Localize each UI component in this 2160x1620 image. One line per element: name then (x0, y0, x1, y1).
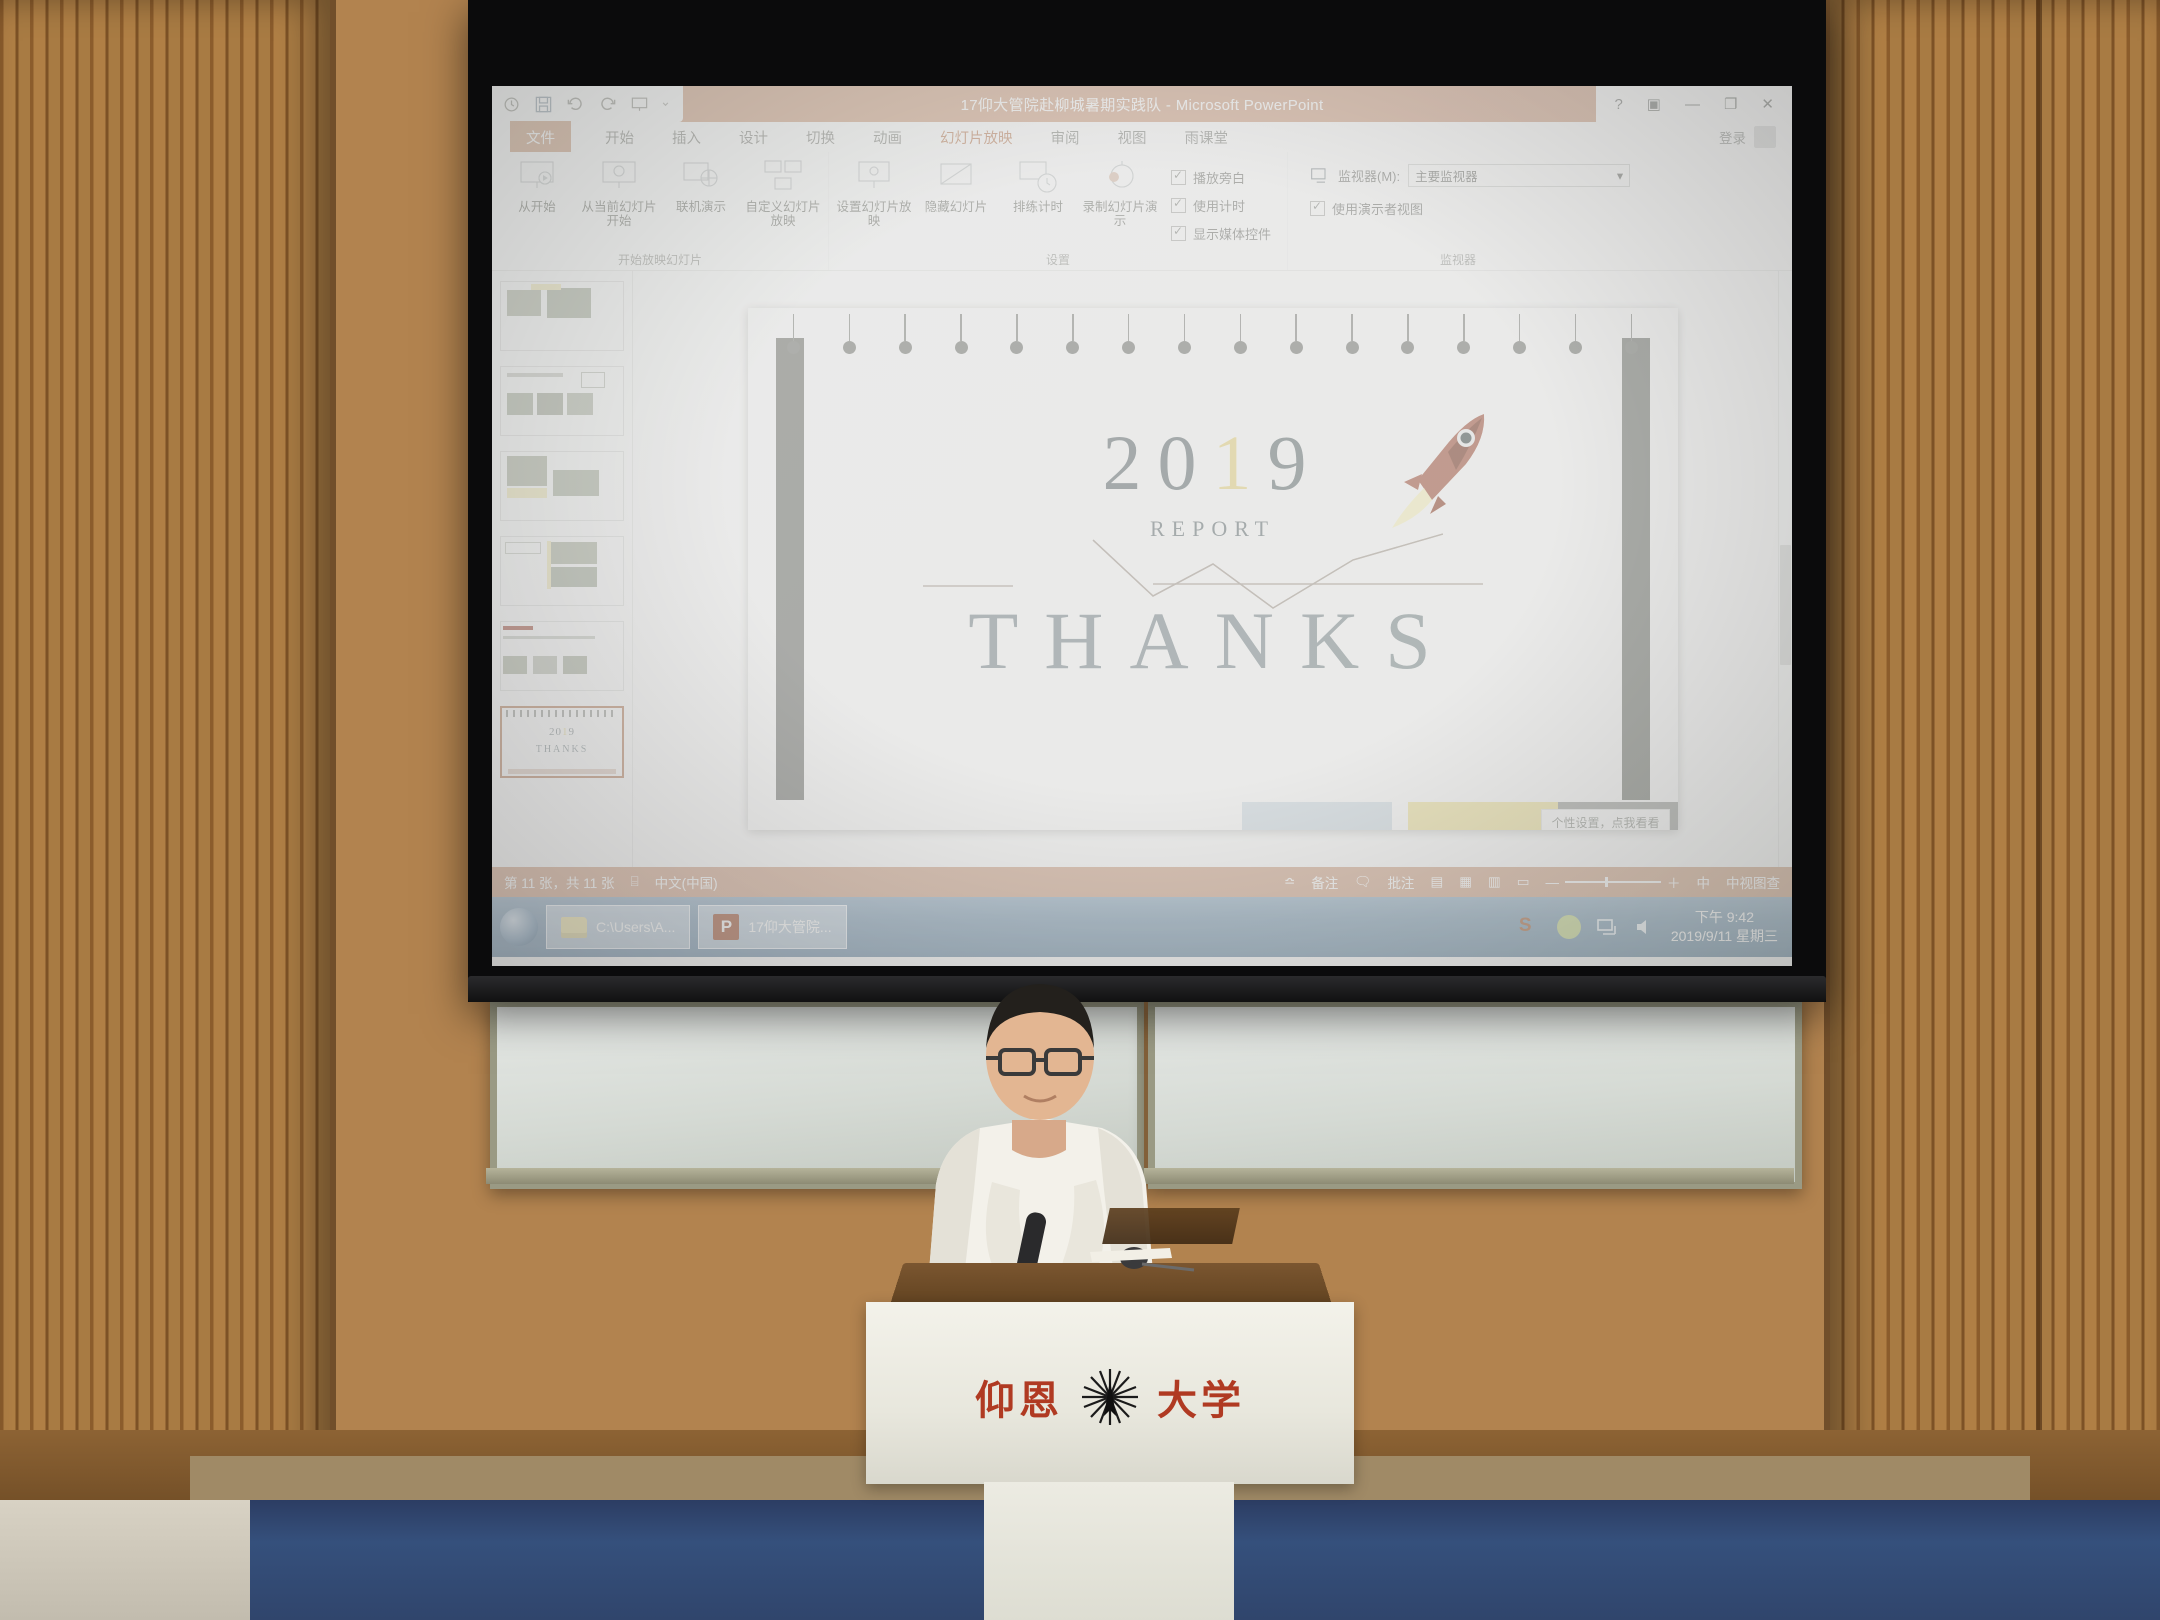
shield-icon[interactable] (1557, 915, 1581, 939)
taskbar-item-label: C:\Users\A... (596, 919, 675, 935)
notes-button[interactable]: 备注 (1311, 872, 1338, 892)
button-label: 录制幻灯片演示 (1081, 200, 1159, 228)
podium-bag (1102, 1208, 1240, 1244)
language-indicator[interactable]: 中文(中国) (655, 872, 718, 892)
sogou-input-icon[interactable]: S (1519, 915, 1543, 939)
volume-icon[interactable] (1633, 915, 1657, 939)
button-from-current-slide[interactable]: 从当前幻灯片开始 (580, 158, 658, 228)
tab-insert[interactable]: 插入 (668, 123, 705, 152)
play-from-start-icon (515, 158, 559, 198)
button-label: 隐藏幻灯片 (925, 200, 988, 214)
pin (1123, 314, 1135, 354)
tooltip-personalize: 个性设置，点我看看 (1541, 809, 1669, 830)
custom-show-icon (761, 158, 805, 198)
record-slideshow-icon (1098, 158, 1142, 198)
year-prefix: 20 (1103, 419, 1213, 506)
powerpoint-window[interactable]: 17仰大管院赴柳城暑期实践队 - Microsoft PowerPoint ? … (492, 86, 1792, 966)
button-from-beginning[interactable]: 从开始 (498, 158, 576, 214)
lecture-hall-scene: 17仰大管院赴柳城暑期实践队 - Microsoft PowerPoint ? … (0, 0, 2160, 1620)
reading-view-icon[interactable]: ▥ (1488, 874, 1501, 890)
podium-front-panel: 仰恩 大学 (866, 1302, 1354, 1484)
button-label: 从开始 (518, 200, 556, 214)
rocket-icon (1374, 404, 1494, 532)
tab-review[interactable]: 审阅 (1047, 123, 1084, 152)
floor-tile-left (0, 1500, 250, 1620)
tab-view[interactable]: 视图 (1114, 123, 1151, 152)
university-name-left: 仰恩 (975, 1368, 1063, 1426)
slide-thumbnail-pane[interactable]: 2019 THANKS (492, 271, 633, 867)
list-item-selected[interactable]: 2019 THANKS (500, 706, 624, 778)
button-label: 排练计时 (1013, 200, 1063, 214)
button-label: 联机演示 (676, 200, 726, 214)
list-item[interactable] (500, 451, 624, 521)
checkbox-use-timings[interactable]: 使用计时 (1171, 196, 1271, 215)
button-present-online[interactable]: 联机演示 (662, 158, 740, 214)
slide-year-title: 2019 (748, 418, 1678, 508)
sunburst-emblem-icon (1079, 1366, 1141, 1428)
zoom-knob[interactable] (1605, 877, 1608, 887)
pin (1067, 314, 1079, 354)
sign-in-control[interactable]: 登录 (1719, 126, 1776, 148)
pin (1625, 314, 1637, 354)
present-online-icon (679, 158, 723, 198)
setup-checkbox-group[interactable]: 播放旁白 使用计时 显示媒体控件 (1163, 158, 1281, 243)
university-name-right: 大学 (1157, 1368, 1245, 1426)
ribbon-tab-strip[interactable]: 文件 开始 插入 设计 切换 动画 幻灯片放映 审阅 视图 雨课堂 登录 (492, 122, 1792, 152)
monitor-icon (1310, 167, 1330, 184)
pin (1514, 314, 1526, 354)
network-icon[interactable] (1595, 915, 1619, 939)
year-highlight: 1 (1213, 419, 1268, 506)
slide-sorter-icon[interactable]: ▦ (1459, 874, 1472, 890)
pin (1346, 314, 1358, 354)
pin (1402, 314, 1414, 354)
projected-desktop: 17仰大管院赴柳城暑期实践队 - Microsoft PowerPoint ? … (492, 86, 1792, 966)
pin (843, 314, 855, 354)
zoom-in-icon[interactable]: ＋ (1667, 872, 1681, 892)
notes-icon[interactable]: ≏ (1284, 874, 1295, 890)
comments-button[interactable]: 批注 (1387, 872, 1414, 892)
tab-design[interactable]: 设计 (735, 123, 772, 152)
checkbox-show-media-controls[interactable]: 显示媒体控件 (1171, 224, 1271, 243)
pin (1179, 314, 1191, 354)
current-slide[interactable]: 2019 REPORT (748, 308, 1678, 830)
play-from-current-icon (597, 158, 641, 198)
taskbar-item-powerpoint[interactable]: P 17仰大管院... (698, 905, 846, 949)
pin (899, 314, 911, 354)
minimize-button[interactable]: — (1685, 96, 1700, 113)
tab-slideshow[interactable]: 幻灯片放映 (936, 123, 1017, 152)
slide-decor-bar-blue (1242, 802, 1392, 830)
whiteboard-right (1148, 1000, 1802, 1189)
checkbox-label: 显示媒体控件 (1193, 224, 1271, 243)
button-custom-slideshow[interactable]: 自定义幻灯片放映 (744, 158, 822, 228)
taskbar-item-label: 17仰大管院... (748, 917, 831, 937)
pin (1458, 314, 1470, 354)
binder-pins (788, 314, 1638, 360)
avatar[interactable] (1754, 126, 1776, 148)
slide-counter: 第 11 张，共 11 张 (504, 872, 615, 892)
checkbox-box[interactable] (1310, 201, 1325, 216)
list-item[interactable] (500, 281, 624, 351)
zoom-slider[interactable]: — ＋ (1546, 872, 1681, 892)
close-button[interactable]: ✕ (1761, 95, 1774, 113)
slideshow-icon[interactable]: ▭ (1517, 874, 1530, 890)
checkbox-label: 播放旁白 (1193, 168, 1245, 187)
wall-panel-right (1830, 0, 2160, 1620)
tab-rain-classroom[interactable]: 雨课堂 (1181, 123, 1233, 152)
spellcheck-icon[interactable]: ⌸ (631, 874, 639, 890)
ribbon-group-setup: 设置幻灯片放映 隐藏幻灯片 排练计时 录制幻灯片演示 (828, 152, 1287, 270)
comment-icon[interactable]: 🗨 (1354, 874, 1371, 890)
clock-time: 下午 9:42 (1671, 908, 1778, 927)
slide-right-band (1622, 338, 1650, 800)
podium: 仰恩 大学 (866, 1258, 1354, 1620)
fit-to-window-label[interactable]: 中视图查 (1726, 872, 1780, 892)
hide-slide-icon (934, 158, 978, 198)
checkbox-box[interactable] (1171, 226, 1186, 241)
monitor-selector-row[interactable]: 监视器(M): 主要监视器 ▾ (1310, 164, 1630, 187)
tab-file[interactable]: 文件 (510, 121, 571, 154)
group-label-start-slideshow: 开始放映幻灯片 (492, 251, 828, 268)
pin (1234, 314, 1246, 354)
checkbox-presenter-view[interactable]: 使用演示者视图 (1310, 199, 1630, 218)
slide-editing-pane[interactable]: 2019 REPORT (633, 271, 1792, 867)
restore-button[interactable]: ❐ (1724, 95, 1737, 113)
zoom-out-icon[interactable]: — (1546, 875, 1560, 890)
system-tray[interactable]: S 下午 9:42 2019/9/11 星期三 (1505, 897, 1792, 957)
ribbon[interactable]: 从开始 从当前幻灯片开始 联机演示 自定义幻灯片放映 (492, 152, 1792, 271)
monitor-value: 主要监视器 (1415, 166, 1478, 185)
title-bar: 17仰大管院赴柳城暑期实践队 - Microsoft PowerPoint ? … (492, 86, 1792, 122)
folder-icon (561, 917, 587, 938)
status-bar[interactable]: 第 11 张，共 11 张 ⌸ 中文(中国) ≏ 备注 🗨 批注 ▤ ▦ ▥ ▭… (492, 867, 1792, 897)
wall-seam (2036, 0, 2042, 1620)
monitor-dropdown[interactable]: 主要监视器 ▾ (1408, 164, 1630, 187)
checkbox-label: 使用演示者视图 (1332, 199, 1423, 218)
wall-panel-left (0, 0, 330, 1620)
ribbon-options-icon[interactable]: ▣ (1647, 95, 1661, 113)
podium-column (984, 1482, 1234, 1620)
tab-home[interactable]: 开始 (601, 123, 638, 152)
pin (1570, 314, 1582, 354)
start-orb-icon[interactable] (500, 908, 538, 946)
taskbar-item-explorer[interactable]: C:\Users\A... (546, 905, 690, 949)
editor-work-area: 2019 THANKS (492, 271, 1792, 867)
sign-in-label[interactable]: 登录 (1719, 127, 1746, 147)
ribbon-group-start-slideshow: 从开始 从当前幻灯片开始 联机演示 自定义幻灯片放映 (492, 152, 828, 270)
button-setup-slideshow[interactable]: 设置幻灯片放映 (835, 158, 913, 228)
vertical-scrollbar[interactable] (1778, 271, 1792, 867)
ribbon-group-monitors: 监视器(M): 主要监视器 ▾ 使用演示者视图 监视器 (1287, 152, 1636, 270)
button-label: 从当前幻灯片开始 (580, 200, 658, 228)
checkbox-play-narrations[interactable]: 播放旁白 (1171, 168, 1271, 187)
scrollbar-thumb[interactable] (1780, 545, 1791, 665)
podium-university-sign: 仰恩 大学 (866, 1366, 1354, 1428)
powerpoint-icon: P (713, 914, 739, 940)
button-label: 设置幻灯片放映 (835, 200, 913, 228)
help-icon[interactable]: ? (1614, 96, 1622, 113)
taskbar-clock[interactable]: 下午 9:42 2019/9/11 星期三 (1671, 908, 1778, 946)
tab-transitions[interactable]: 切换 (802, 123, 839, 152)
list-item[interactable] (500, 621, 624, 691)
clock-date: 2019/9/11 星期三 (1671, 927, 1778, 946)
checkbox-box[interactable] (1171, 170, 1186, 185)
zoom-level: 中 (1697, 872, 1711, 892)
pin (788, 314, 800, 354)
wall-seam (330, 0, 336, 1620)
slide-thanks-title: THANKS (748, 594, 1678, 688)
button-hide-slide[interactable]: 隐藏幻灯片 (917, 158, 995, 214)
pin (1290, 314, 1302, 354)
pin (1011, 314, 1023, 354)
whiteboard-rail-right (1144, 1168, 1794, 1184)
slide-left-band (776, 338, 804, 800)
monitor-label: 监视器(M): (1338, 166, 1400, 185)
group-label-monitors: 监视器 (1328, 251, 1588, 268)
window-controls[interactable]: ? ▣ — ❐ ✕ (1596, 86, 1792, 122)
tab-animations[interactable]: 动画 (869, 123, 906, 152)
normal-view-icon[interactable]: ▤ (1430, 874, 1443, 890)
list-item[interactable] (500, 366, 624, 436)
button-label: 自定义幻灯片放映 (744, 200, 822, 228)
button-rehearse-timings[interactable]: 排练计时 (999, 158, 1077, 214)
button-record-slideshow[interactable]: 录制幻灯片演示 (1081, 158, 1159, 228)
checkbox-box[interactable] (1171, 198, 1186, 213)
group-label-setup: 设置 (829, 251, 1287, 268)
pin (955, 314, 967, 354)
slide-decor-bar-yellow (1408, 802, 1558, 830)
checkbox-label: 使用计时 (1193, 196, 1245, 215)
chevron-down-icon[interactable]: ▾ (1617, 168, 1623, 183)
list-item[interactable] (500, 536, 624, 606)
zoom-track[interactable] (1565, 881, 1661, 883)
rehearse-timings-icon (1016, 158, 1060, 198)
year-suffix: 9 (1268, 419, 1323, 506)
setup-show-icon (852, 158, 896, 198)
